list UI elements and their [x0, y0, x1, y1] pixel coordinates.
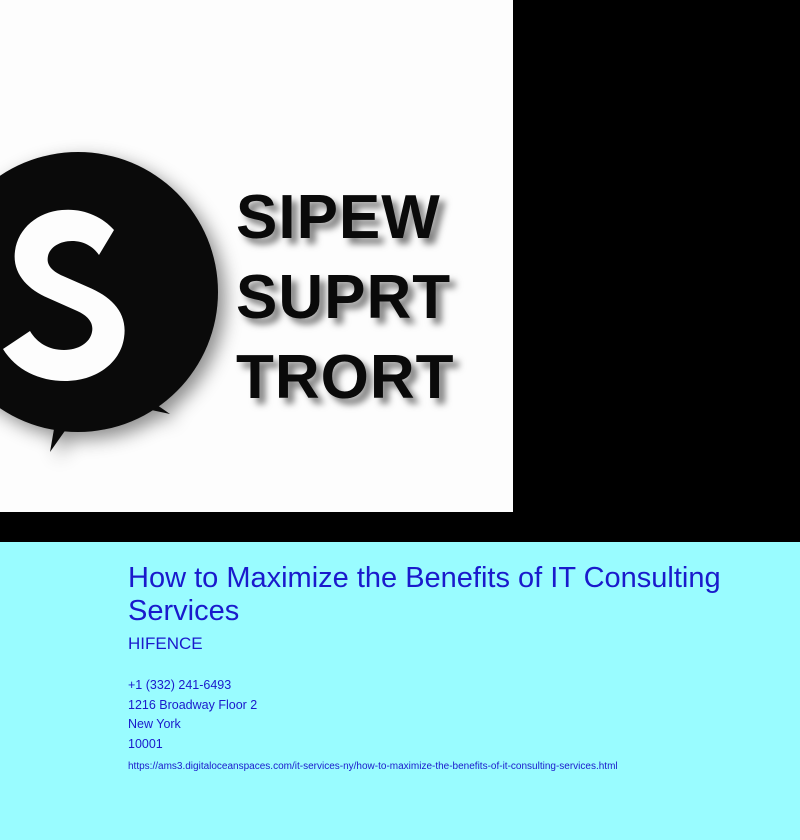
logo-wordmark-line-1: SIPEW	[236, 178, 513, 258]
info-panel: How to Maximize the Benefits of IT Consu…	[0, 542, 800, 840]
hero-black-panel-right	[513, 0, 800, 542]
contact-block: +1 (332) 241-6493 1216 Broadway Floor 2 …	[128, 676, 728, 754]
speech-bubble-s-logo-icon	[0, 152, 238, 452]
company-name: HIFENCE	[128, 633, 728, 655]
contact-phone[interactable]: +1 (332) 241-6493	[128, 676, 728, 696]
hero-black-band-bottom	[0, 512, 513, 542]
logo-wordmark-line-2: SUPRT	[236, 258, 513, 338]
page-root: SIPEW SUPRT TRORT How to Maximize the Be…	[0, 0, 800, 840]
contact-street: 1216 Broadway Floor 2	[128, 696, 728, 716]
info-content: How to Maximize the Benefits of IT Consu…	[128, 562, 728, 773]
hero-banner: SIPEW SUPRT TRORT	[0, 0, 800, 542]
page-title: How to Maximize the Benefits of IT Consu…	[128, 562, 728, 628]
page-url[interactable]: https://ams3.digitaloceanspaces.com/it-s…	[128, 760, 728, 773]
logo-wordmark-line-3: TRORT	[236, 338, 513, 418]
contact-postal-code: 10001	[128, 735, 728, 755]
logo-wordmark: SIPEW SUPRT TRORT	[236, 178, 513, 418]
contact-city: New York	[128, 715, 728, 735]
hero-artwork-area: SIPEW SUPRT TRORT	[0, 0, 513, 512]
